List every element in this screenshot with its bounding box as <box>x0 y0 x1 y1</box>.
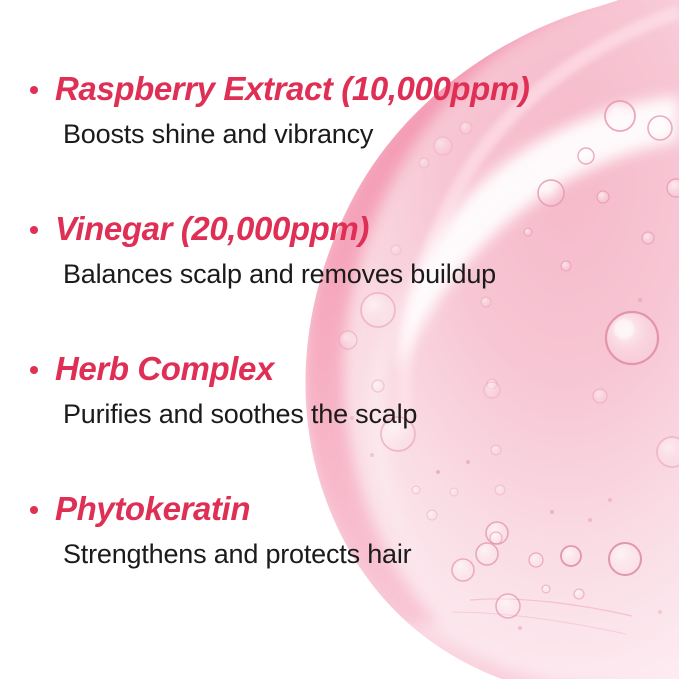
bullet-dot-icon <box>30 506 38 514</box>
bullet-dot-icon <box>30 226 38 234</box>
ingredient-description: Balances scalp and removes buildup <box>63 258 650 291</box>
benefits-content: Raspberry Extract (10,000ppm) Boosts shi… <box>0 0 679 679</box>
bullet-dot-icon <box>30 86 38 94</box>
ingredient-heading-row: Herb Complex <box>30 350 650 388</box>
ingredient-heading-row: Raspberry Extract (10,000ppm) <box>30 70 650 108</box>
list-item: Vinegar (20,000ppm) Balances scalp and r… <box>30 210 650 291</box>
ingredient-name: Phytokeratin <box>55 490 250 528</box>
ingredient-description: Purifies and soothes the scalp <box>63 398 650 431</box>
ingredient-heading-row: Vinegar (20,000ppm) <box>30 210 650 248</box>
ingredient-heading-row: Phytokeratin <box>30 490 650 528</box>
ingredient-name: Herb Complex <box>55 350 274 388</box>
list-item: Phytokeratin Strengthens and protects ha… <box>30 490 650 571</box>
ingredient-description: Strengthens and protects hair <box>63 538 650 571</box>
list-item: Raspberry Extract (10,000ppm) Boosts shi… <box>30 70 650 151</box>
ingredient-name: Vinegar (20,000ppm) <box>55 210 369 248</box>
product-benefits-graphic: Raspberry Extract (10,000ppm) Boosts shi… <box>0 0 679 679</box>
bullet-dot-icon <box>30 366 38 374</box>
ingredient-name: Raspberry Extract (10,000ppm) <box>55 70 529 108</box>
list-item: Herb Complex Purifies and soothes the sc… <box>30 350 650 431</box>
ingredient-description: Boosts shine and vibrancy <box>63 118 650 151</box>
